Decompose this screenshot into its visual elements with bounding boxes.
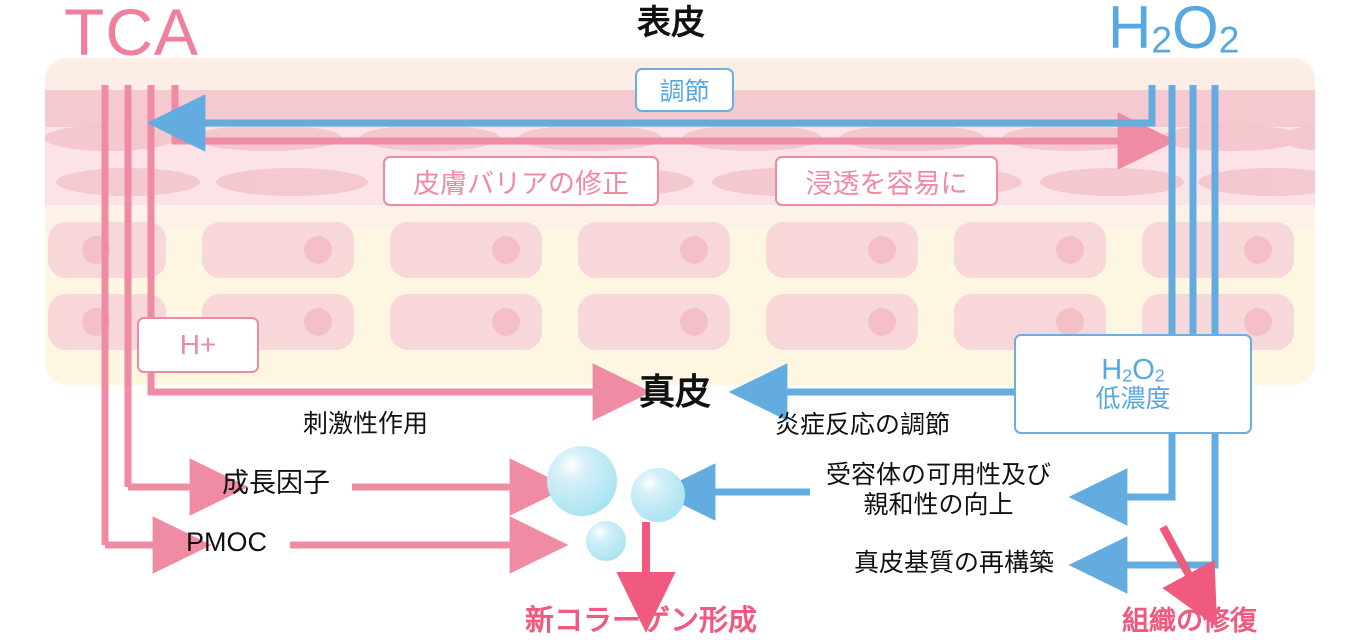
tissue-repair-arrow xyxy=(1163,527,1196,588)
h2o2-low-concentration-text: 低濃度 xyxy=(1095,387,1170,412)
fibroblast-bubbles xyxy=(547,446,685,561)
h2o2-low-o: O xyxy=(1132,354,1155,386)
receptor-availability-line2: 親和性の向上 xyxy=(826,491,1051,521)
new-collagen-outcome: 新コラーゲン形成 xyxy=(525,605,757,637)
h2o2-low-h: H xyxy=(1101,354,1122,386)
h-plus-callout: H+ xyxy=(137,317,259,373)
pmoc-label: PMOC xyxy=(186,527,267,557)
inflammation-regulation-label: 炎症反応の調節 xyxy=(775,411,950,439)
barrier-repair-callout: 皮膚バリアの修正 xyxy=(383,156,659,206)
h2o2-label: H2O2 xyxy=(1108,0,1239,61)
h2o2-low-concentration-callout: H2O2 低濃度 xyxy=(1014,334,1252,434)
h2o2-low-formula: H2O2 xyxy=(1101,356,1165,385)
h2o2-label-sub2: 2 xyxy=(1219,18,1240,60)
dermis-heading: 真皮 xyxy=(639,372,711,412)
h2o2-label-o: O xyxy=(1172,0,1219,61)
tissue-repair-outcome: 組織の修復 xyxy=(1122,606,1257,636)
diagram-canvas: TCA H2O2 表皮 真皮 調節 皮膚バリアの修正 浸透を容易に H+ H2O… xyxy=(0,0,1360,644)
receptor-availability-label: 受容体の可用性及び 親和性の向上 xyxy=(826,461,1051,520)
h2o2-label-h: H xyxy=(1108,0,1151,61)
tca-label: TCA xyxy=(64,0,199,70)
irritant-action-label: 刺激性作用 xyxy=(303,410,428,438)
regulation-callout: 調節 xyxy=(635,68,734,112)
receptor-availability-line1: 受容体の可用性及び xyxy=(826,461,1051,491)
h2o2-low-sub1: 2 xyxy=(1122,366,1132,386)
h2o2-low-sub2: 2 xyxy=(1155,366,1165,386)
dermal-matrix-remodel-label: 真皮基質の再構築 xyxy=(854,549,1054,577)
h2o2-label-sub1: 2 xyxy=(1151,18,1172,60)
h2o2-lower-branches xyxy=(1112,430,1215,565)
growth-factor-label: 成長因子 xyxy=(222,468,330,498)
epidermis-heading: 表皮 xyxy=(637,4,705,42)
ease-penetration-callout: 浸透を容易に xyxy=(775,156,998,206)
